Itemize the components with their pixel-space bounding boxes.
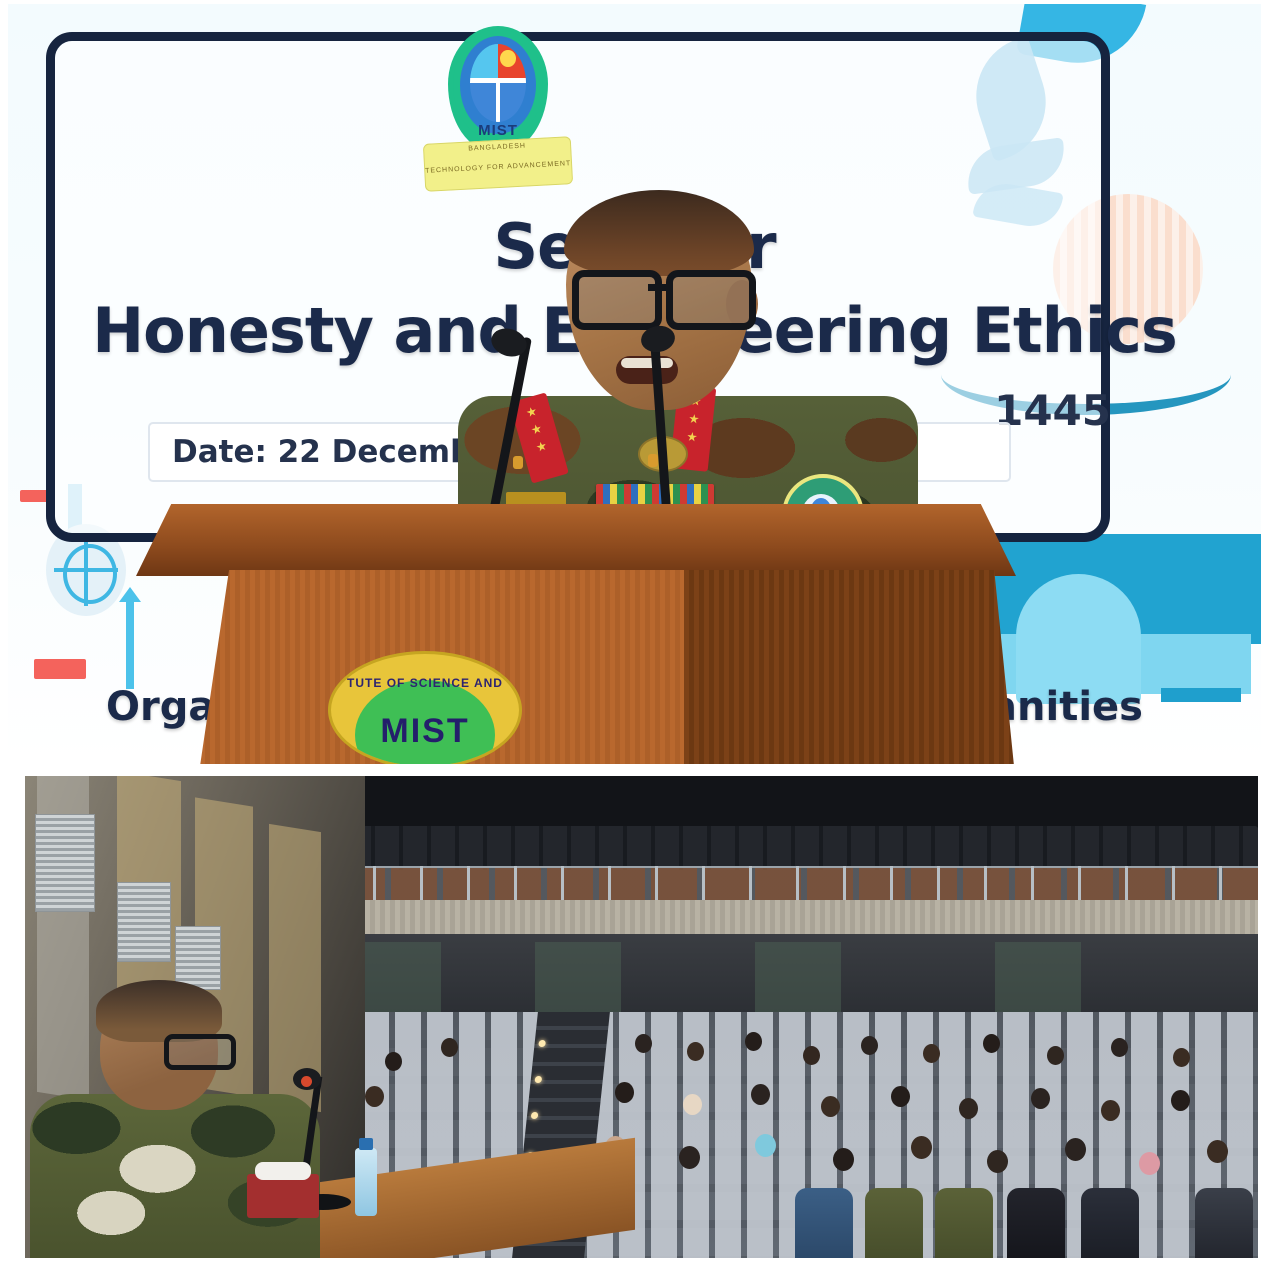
- air-vent-icon: [35, 814, 95, 912]
- emblem-country: BANGLADESH: [423, 140, 571, 155]
- photo-collage-page: MIST BANGLADESH TECHNOLOGY FOR ADVANCEME…: [0, 0, 1280, 1280]
- eyeglasses-icon: [164, 1034, 236, 1070]
- microphone-tip: [513, 456, 523, 469]
- eyeglasses-icon: [570, 270, 752, 316]
- slide-hijri-year: 1445: [994, 386, 1111, 435]
- wooden-podium: TUTE OF SCIENCE AND MIST: [136, 504, 1016, 764]
- air-vent-icon: [175, 926, 221, 990]
- air-vent-icon: [117, 882, 171, 962]
- podium-seal-text: TUTE OF SCIENCE AND: [331, 676, 519, 690]
- up-arrow-icon: [126, 599, 134, 689]
- speaker-figure: [478, 184, 898, 544]
- rear-wall: [235, 934, 1258, 1024]
- red-bar-decoration: [34, 659, 86, 679]
- seminar-speaker-photo: MIST BANGLADESH TECHNOLOGY FOR ADVANCEME…: [8, 4, 1261, 764]
- army-officer: [935, 1188, 993, 1258]
- emblem-motto: TECHNOLOGY FOR ADVANCEMENT: [424, 160, 572, 175]
- tissue-box: [247, 1174, 319, 1218]
- microphone-tip: [648, 454, 658, 467]
- civilian-dignitary: [1007, 1188, 1065, 1258]
- balcony-railing-bars: [235, 866, 1258, 900]
- balcony-seats: [235, 826, 1258, 870]
- front-row-dignitaries: [795, 1188, 1258, 1258]
- civilian-dignitary: [1081, 1188, 1139, 1258]
- upper-balcony: [235, 814, 1258, 934]
- army-officer: [865, 1188, 923, 1258]
- civilian-dignitary: [1195, 1188, 1253, 1258]
- auditorium-audience-photo: [25, 776, 1258, 1258]
- podium-seal-monogram: MIST: [331, 712, 519, 751]
- podium-seal-icon: TUTE OF SCIENCE AND MIST: [331, 654, 519, 764]
- microphone-indicator-light: [301, 1076, 312, 1087]
- water-bottle: [355, 1148, 377, 1216]
- mist-emblem-icon: MIST BANGLADESH TECHNOLOGY FOR ADVANCEME…: [420, 22, 576, 192]
- navy-officer: [795, 1188, 853, 1258]
